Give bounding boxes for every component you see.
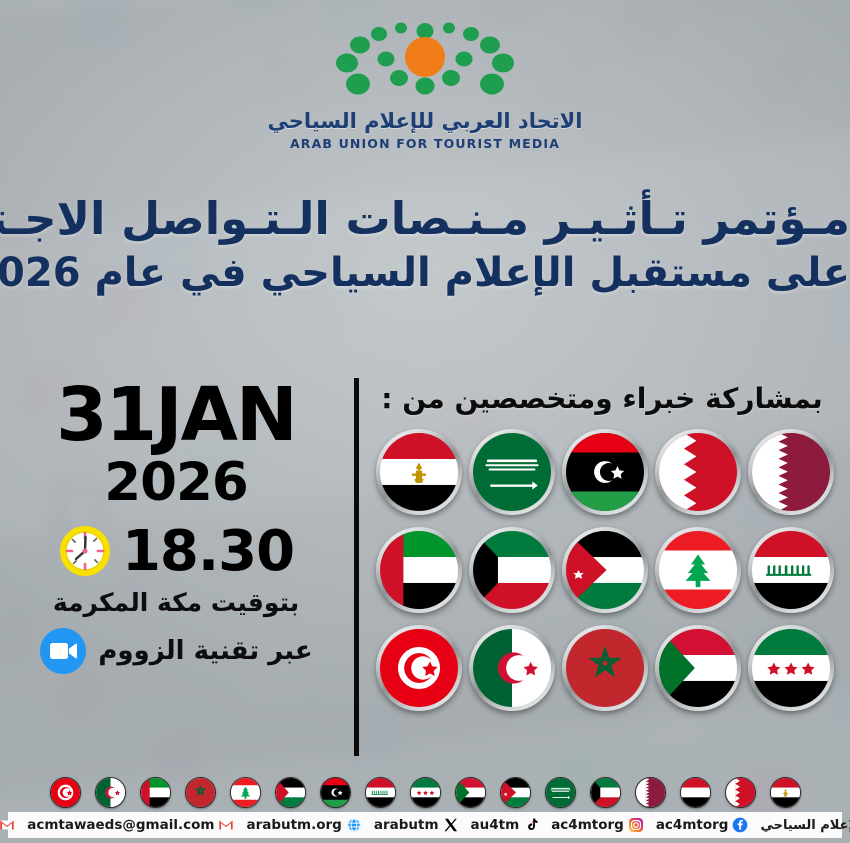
footer-flag-ps-icon <box>275 777 306 808</box>
tiktok-icon <box>523 817 539 833</box>
title-line-1: مـؤتمر تـأثـيـر مـنـصات الـتـواصل الاجـت… <box>0 192 850 246</box>
footer-flag-sd-icon <box>455 777 486 808</box>
flag-badge-iq <box>748 527 834 613</box>
organization-logo: الاتحاد العربي للإعلام السياحي ARAB UNIO… <box>0 14 850 151</box>
flag-sd-icon <box>659 629 737 707</box>
footer-flag-ae-icon <box>140 777 171 808</box>
contact-x-twitter-4[interactable]: arabutm <box>368 817 465 833</box>
flag-badge-sa <box>469 429 555 515</box>
footer-flag-qa-icon <box>635 777 666 808</box>
logo-arabic-name: الاتحاد العربي للإعلام السياحي <box>268 109 583 133</box>
flag-lb-icon <box>659 531 737 609</box>
clock-icon <box>58 524 112 578</box>
title-line-2: على مستقبل الإعلام السياحي في عام 2026 <box>0 248 850 299</box>
flag-bh-icon <box>659 433 737 511</box>
flag-badge-kw <box>469 527 555 613</box>
flag-badge-ly <box>562 429 648 515</box>
flag-badge-qa <box>748 429 834 515</box>
flag-eg-icon <box>380 433 458 511</box>
flag-sy-icon <box>752 629 830 707</box>
vertical-divider <box>354 378 359 756</box>
participants-block: بمشاركة خبراء ومتخصصين من : <box>360 382 850 711</box>
gmail-icon <box>0 817 15 833</box>
flag-badge-ma <box>562 625 648 711</box>
flag-badge-sd <box>655 625 741 711</box>
footer-flag-tn-icon <box>50 777 81 808</box>
flag-badge-sy <box>748 625 834 711</box>
footer-flag-ye-icon <box>680 777 711 808</box>
event-platform-row: عبر تقنية الزووم <box>39 627 312 675</box>
contact-globe-5[interactable]: arabutm.org <box>240 817 367 833</box>
footer-flag-jo-icon <box>500 777 531 808</box>
flag-qa-icon <box>752 433 830 511</box>
footer-flag-sy-icon <box>410 777 441 808</box>
contact-instagram-2[interactable]: ac4mtorg <box>545 817 650 833</box>
contact-bar: الاتحاد العربي للإعلام السياحيac4mtorgac… <box>8 812 842 838</box>
flag-kw-icon <box>473 531 551 609</box>
flag-badge-lb <box>655 527 741 613</box>
facebook-icon <box>732 817 748 833</box>
footer-flag-ly-icon <box>320 777 351 808</box>
flag-badge-tn <box>376 625 462 711</box>
flag-badge-bh <box>655 429 741 515</box>
contact-label: ac4mtorg <box>656 817 729 833</box>
flag-iq-icon <box>752 531 830 609</box>
event-datetime-block: 31JAN 2026 <box>0 380 352 675</box>
contact-label: acmtawaeds@gmail.com <box>27 817 214 833</box>
footer-flag-eg-icon <box>770 777 801 808</box>
flag-ly-icon <box>566 433 644 511</box>
footer-flag-bh-icon <box>725 777 756 808</box>
contact-youtube-0[interactable]: الاتحاد العربي للإعلام السياحي <box>754 817 850 833</box>
event-time: 18.30 <box>122 519 294 584</box>
contact-tiktok-3[interactable]: au4tm <box>465 817 546 833</box>
flag-jo-icon <box>566 531 644 609</box>
event-platform: عبر تقنية الزووم <box>98 636 312 666</box>
participant-flags-grid <box>360 429 850 711</box>
conference-title: مـؤتمر تـأثـيـر مـنـصات الـتـواصل الاجـت… <box>0 192 850 299</box>
x-twitter-icon <box>443 817 459 833</box>
contact-label: au4tm <box>471 817 520 833</box>
contact-label: الاتحاد العربي للإعلام السياحي <box>760 818 850 833</box>
flag-ae-icon <box>380 531 458 609</box>
conference-poster: XinXftGgtf <box>0 0 850 843</box>
logo-english-name: ARAB UNION FOR TOURIST MEDIA <box>290 136 560 151</box>
footer-flags-row <box>0 777 850 808</box>
event-date-year: 2026 <box>104 455 248 511</box>
event-timezone: بتوقيت مكة المكرمة <box>53 588 299 617</box>
flag-sa-icon <box>473 433 551 511</box>
footer-flag-sa-icon <box>545 777 576 808</box>
flag-badge-jo <box>562 527 648 613</box>
event-date-day: 31JAN <box>56 380 296 451</box>
contact-label: ac4mtorg <box>551 817 624 833</box>
footer-flag-iq-icon <box>365 777 396 808</box>
flag-badge-dz <box>469 625 555 711</box>
footer-flag-kw-icon <box>590 777 621 808</box>
globe-icon <box>346 817 362 833</box>
participants-heading: بمشاركة خبراء ومتخصصين من : <box>360 382 850 415</box>
zoom-video-icon <box>39 627 87 675</box>
footer-flag-lb-icon <box>230 777 261 808</box>
flag-badge-ae <box>376 527 462 613</box>
footer-flag-dz-icon <box>95 777 126 808</box>
arab-union-logo-mark <box>313 14 537 108</box>
flag-tn-icon <box>380 629 458 707</box>
flag-dz-icon <box>473 629 551 707</box>
contact-label: arabutm <box>374 817 439 833</box>
flag-ma-icon <box>566 629 644 707</box>
instagram-icon <box>628 817 644 833</box>
gmail-icon <box>218 817 234 833</box>
contact-facebook-1[interactable]: ac4mtorg <box>650 817 755 833</box>
contact-gmail-7[interactable]: info@ac4mt.net <box>0 817 21 833</box>
contact-label: arabutm.org <box>246 817 341 833</box>
event-time-row: 18.30 <box>58 519 294 584</box>
contact-gmail-6[interactable]: acmtawaeds@gmail.com <box>21 817 240 833</box>
footer-flag-ma-icon <box>185 777 216 808</box>
flag-badge-eg <box>376 429 462 515</box>
